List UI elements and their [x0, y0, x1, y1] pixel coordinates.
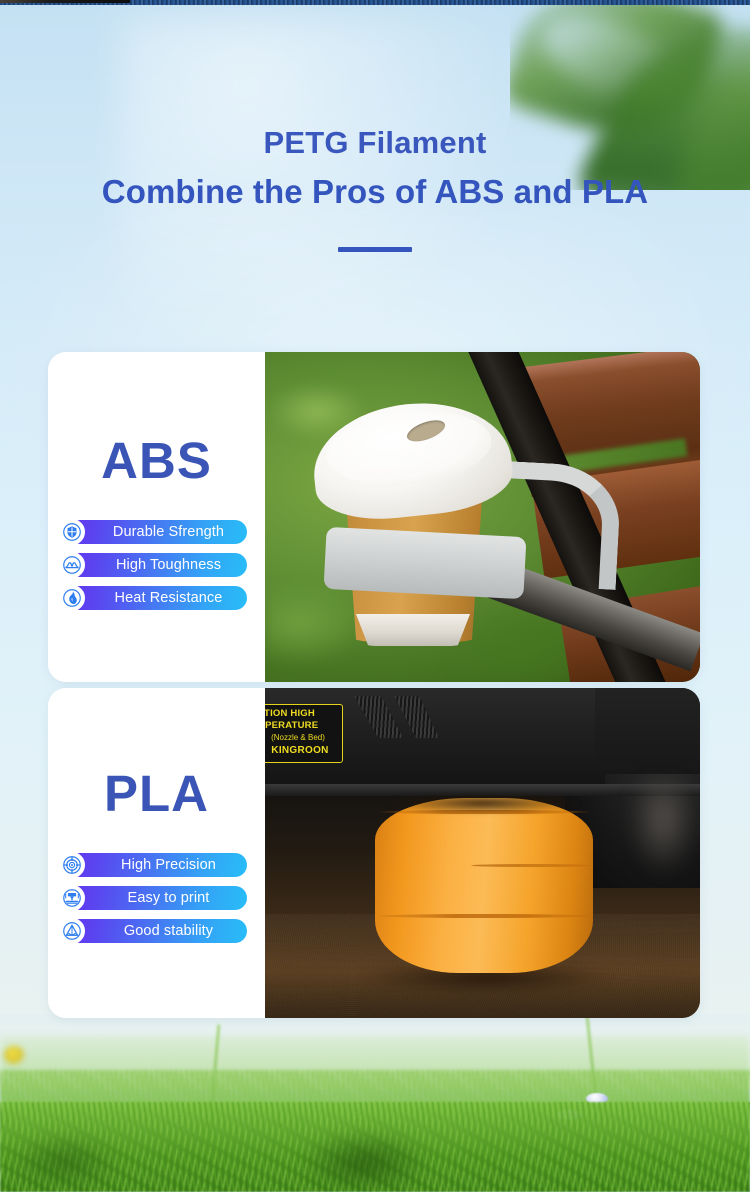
printer-nozzle-icon [59, 885, 85, 911]
feature-label: High Toughness [94, 557, 247, 573]
printed-object-top-shadow [385, 796, 581, 814]
feature-badge-heat-resistance[interactable]: Heat Resistance [68, 586, 247, 610]
grass-shadow-patch [10, 1134, 120, 1182]
card-abs-feature-list: Durable Sfrength High Toughness [58, 520, 248, 610]
target-icon [59, 852, 85, 878]
feature-badge-good-stability[interactable]: Good stability [68, 919, 247, 943]
product-banner-page: PETG Filament Combine the Pros of ABS an… [0, 0, 750, 1192]
feature-card-pla: PLA High Precision [48, 688, 700, 1018]
card-abs-photo [265, 352, 700, 682]
card-pla-info-panel: PLA High Precision [48, 688, 265, 1018]
pyramid-icon [59, 918, 85, 944]
card-abs-info-panel: ABS Durable Sfrength [48, 352, 265, 682]
grass-shadow-patch [300, 1130, 430, 1186]
coffee-cup-base [351, 614, 475, 646]
shield-icon [59, 519, 85, 545]
page-title-line-1: PETG Filament [0, 120, 750, 166]
caution-label-brand: KINGROON [265, 744, 337, 758]
printer-gantry-right [595, 688, 700, 774]
caution-label-line-3: (Nozzle & Bed) [265, 732, 337, 744]
caution-label-line-1: UTION HIGH [265, 708, 337, 720]
caution-label-line-2: MPERATURE [265, 720, 337, 732]
feature-label: High Precision [94, 857, 247, 873]
print-layer-line [471, 864, 589, 867]
printer-caution-label: UTION HIGH MPERATURE (Nozzle & Bed) KING… [265, 704, 343, 763]
feature-label: Durable Sfrength [94, 524, 247, 540]
feature-label: Heat Resistance [94, 590, 247, 606]
feature-label: Good stability [94, 923, 247, 939]
printed-orange-object [375, 798, 593, 973]
card-pla-feature-list: High Precision Eas [58, 853, 248, 943]
banner-header: PETG Filament Combine the Pros of ABS an… [0, 120, 750, 252]
card-abs-title: ABS [101, 435, 212, 486]
feature-card-abs: ABS Durable Sfrength [48, 352, 700, 682]
grass-footer [0, 1014, 750, 1192]
background-bokeh [630, 784, 696, 874]
card-pla-title: PLA [104, 768, 209, 819]
top-edge-strip [0, 0, 750, 5]
feature-badge-durable-strength[interactable]: Durable Sfrength [68, 520, 247, 544]
feature-badge-high-toughness[interactable]: High Toughness [68, 553, 247, 577]
feature-badge-easy-to-print[interactable]: Easy to print [68, 886, 247, 910]
page-title-line-2: Combine the Pros of ABS and PLA [0, 166, 750, 218]
card-pla-photo: UTION HIGH MPERATURE (Nozzle & Bed) KING… [265, 688, 700, 1018]
feature-label: Easy to print [94, 890, 247, 906]
print-layer-line [379, 914, 588, 918]
feature-badge-high-precision[interactable]: High Precision [68, 853, 247, 877]
title-divider [338, 247, 412, 252]
flame-icon [59, 585, 85, 611]
spring-icon [59, 552, 85, 578]
printed-cup-holder-band [324, 527, 527, 599]
yellow-flower-icon [4, 1046, 24, 1064]
